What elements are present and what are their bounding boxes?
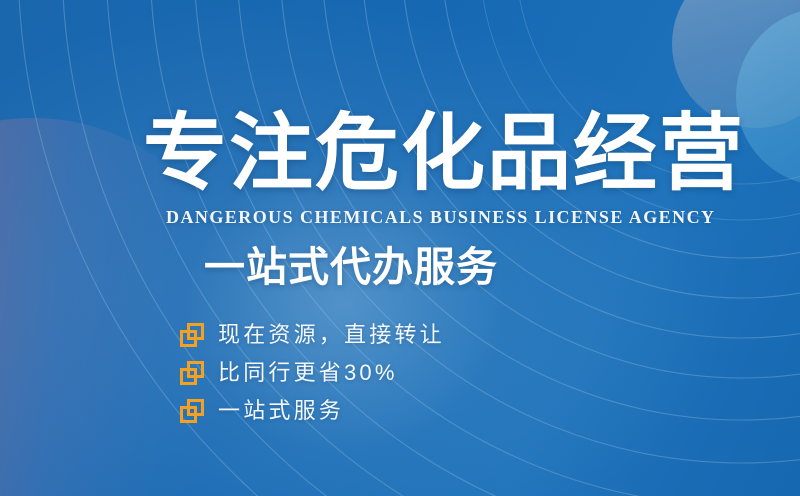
feature-item: 比同行更省30%: [180, 354, 445, 392]
feature-item-label: 比同行更省30%: [218, 360, 398, 386]
overlapping-squares-icon: [180, 361, 204, 385]
feature-item-label: 现在资源，直接转让: [218, 322, 445, 348]
banner-content: 专注危化品经营 DANGEROUS CHEMICALS BUSINESS LIC…: [0, 0, 800, 496]
banner-subtitle-english: DANGEROUS CHEMICALS BUSINESS LICENSE AGE…: [166, 206, 715, 228]
overlapping-squares-icon: [180, 323, 204, 347]
feature-list: 现在资源，直接转让 比同行更省30% 一站式服务: [180, 316, 445, 430]
overlapping-squares-icon: [180, 399, 204, 423]
banner-headline: 专注危化品经营: [143, 110, 745, 196]
feature-item: 一站式服务: [180, 392, 445, 430]
banner-secondary-headline: 一站式代办服务: [204, 243, 498, 291]
promotional-banner: 专注危化品经营 DANGEROUS CHEMICALS BUSINESS LIC…: [0, 0, 800, 496]
feature-item-label: 一站式服务: [218, 398, 344, 424]
feature-item: 现在资源，直接转让: [180, 316, 445, 354]
